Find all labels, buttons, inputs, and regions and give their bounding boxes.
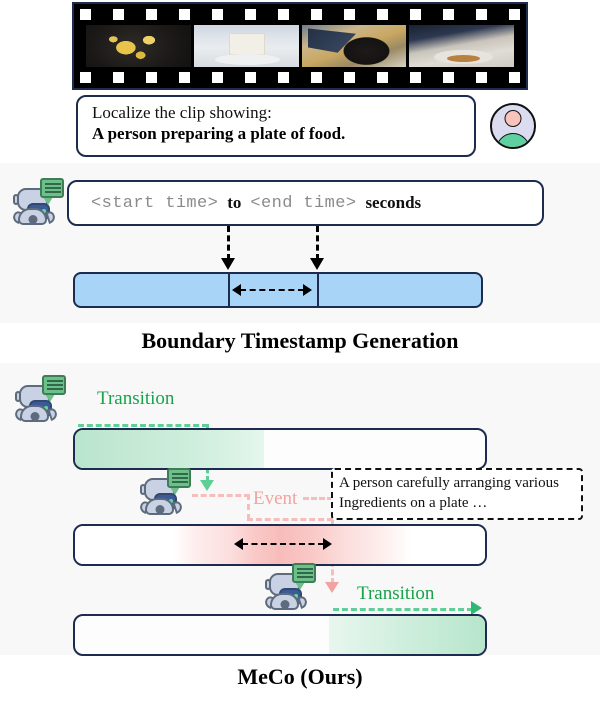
transition-end-fill bbox=[329, 616, 485, 654]
speech-bubble-tail bbox=[295, 582, 305, 590]
start-marker-dashed-line bbox=[227, 226, 230, 260]
transition-label-bottom: Transition bbox=[357, 583, 434, 605]
speech-bubble-tail bbox=[43, 197, 53, 205]
event-span-arrow bbox=[234, 538, 332, 550]
event-connector-top bbox=[192, 494, 250, 497]
robot-core bbox=[28, 215, 37, 224]
robot-chat-icon bbox=[15, 375, 67, 423]
query-prompt-line: Localize the clip showing: bbox=[92, 102, 460, 123]
end-time-token: <end time> bbox=[250, 194, 356, 213]
robot-body bbox=[145, 498, 174, 515]
robot-chat-icon bbox=[265, 563, 317, 611]
robot-chat-icon bbox=[13, 178, 65, 226]
user-avatar-icon bbox=[490, 103, 536, 149]
filmstrip-frames bbox=[86, 25, 514, 67]
speech-bubble-icon bbox=[40, 178, 64, 198]
prompt-unit-word: seconds bbox=[365, 193, 421, 213]
figure-root: Localize the clip showing: A person prep… bbox=[0, 0, 600, 702]
filmstrip-sprockets-top bbox=[80, 9, 520, 20]
end-marker-arrowhead bbox=[310, 258, 324, 270]
timestamp-prompt-box: <start time> to <end time> seconds bbox=[67, 180, 544, 226]
event-label: Event bbox=[253, 488, 297, 510]
robot-body bbox=[270, 593, 299, 610]
event-connector-bottom bbox=[247, 518, 333, 521]
transition-connector-arrowhead bbox=[200, 480, 214, 491]
speech-bubble-icon bbox=[167, 468, 191, 488]
query-target-text: A person preparing a plate of food. bbox=[92, 123, 460, 145]
avatar-head bbox=[505, 110, 522, 127]
event-to-caption-connector bbox=[303, 497, 333, 500]
end-marker-dashed-line bbox=[316, 226, 319, 260]
robot-body bbox=[20, 405, 49, 422]
robot-body bbox=[18, 208, 47, 225]
event-connector-left bbox=[247, 494, 250, 520]
start-marker-arrowhead bbox=[221, 258, 235, 270]
timeline-end-divider bbox=[317, 274, 319, 306]
robot-core bbox=[30, 412, 39, 421]
speech-bubble-tail bbox=[170, 487, 180, 495]
robot-core bbox=[280, 600, 289, 609]
video-frame-3 bbox=[302, 25, 407, 67]
transition-end-bar bbox=[73, 614, 487, 656]
speech-bubble-icon bbox=[292, 563, 316, 583]
robot-arm-right bbox=[45, 210, 56, 224]
meco-caption: MeCo (Ours) bbox=[0, 664, 600, 690]
prompt-to-word: to bbox=[227, 193, 241, 213]
event-connector-arrowhead bbox=[325, 582, 339, 593]
transition-label-top: Transition bbox=[97, 388, 174, 410]
event-caption-line-1: A person carefully arranging various bbox=[339, 473, 575, 493]
video-frame-4 bbox=[409, 25, 514, 67]
robot-chat-icon bbox=[140, 468, 192, 516]
timeline-start-divider bbox=[228, 274, 230, 306]
transition-start-bar bbox=[73, 428, 487, 470]
query-box: Localize the clip showing: A person prep… bbox=[76, 95, 476, 157]
robot-arm-right bbox=[47, 407, 58, 421]
transition-end-connector bbox=[333, 608, 473, 611]
predicted-span-arrow bbox=[232, 284, 312, 296]
event-caption-box: A person carefully arranging various Ing… bbox=[331, 468, 583, 520]
speech-bubble-tail bbox=[45, 394, 55, 402]
video-filmstrip bbox=[72, 2, 528, 90]
speech-bubble-icon bbox=[42, 375, 66, 395]
video-frame-1 bbox=[86, 25, 191, 67]
avatar-body bbox=[496, 133, 530, 149]
filmstrip-sprockets-bottom bbox=[80, 72, 520, 83]
video-frame-2 bbox=[194, 25, 299, 67]
robot-core bbox=[155, 505, 164, 514]
transition-start-fill bbox=[75, 430, 264, 468]
robot-arm-right bbox=[297, 595, 308, 609]
baseline-caption: Boundary Timestamp Generation bbox=[0, 328, 600, 354]
robot-arm-right bbox=[172, 500, 183, 514]
transition-connector-horizontal bbox=[78, 424, 208, 427]
transition-end-arrowhead bbox=[471, 601, 482, 615]
start-time-token: <start time> bbox=[91, 194, 218, 213]
event-caption-line-2: Ingredients on a plate … bbox=[339, 493, 575, 513]
